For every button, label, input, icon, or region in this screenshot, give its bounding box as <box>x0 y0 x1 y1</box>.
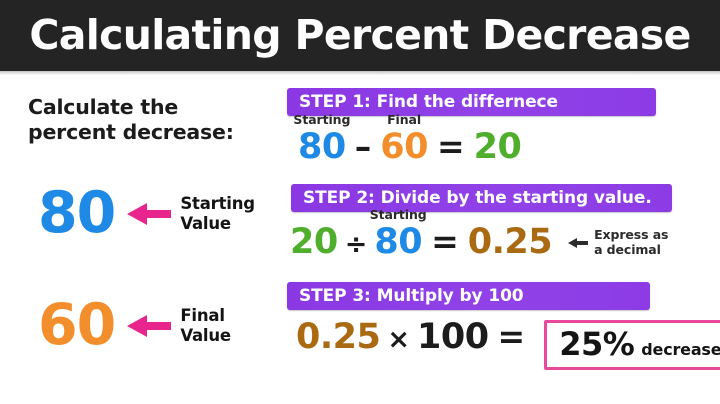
page-title: Calculating Percent Decrease <box>29 15 690 56</box>
final-value-number: 60 <box>38 297 115 354</box>
final-answer-box: 25% decrease <box>544 320 720 370</box>
step-1-equation: Starting 80 – Final 60 = 20 <box>298 130 521 165</box>
final-value-label-line2: Value <box>180 326 231 345</box>
step-2-term-1: 20 <box>290 225 338 260</box>
step-1-term-2-value: 60 <box>380 127 428 167</box>
step-2-result: 0.25 <box>468 225 552 260</box>
step-1-term-1-value: 80 <box>298 127 346 167</box>
starting-value-number: 80 <box>38 185 115 242</box>
step-1-term-1: Starting 80 <box>298 130 346 165</box>
steps-panel: STEP 1: Find the differnece Starting 80 … <box>278 75 720 404</box>
step-1-term-2: Final 60 <box>380 130 428 165</box>
step-2-term-2: Starting 80 <box>374 225 422 260</box>
step-2-equation: 20 ÷ Starting 80 = 0.25 Express as a dec… <box>290 225 668 260</box>
step-3-equation: 0.25 × 100 = 25% decrease <box>296 320 720 370</box>
final-value-label-line1: Final <box>180 306 231 325</box>
final-value-row: 60 Final Value <box>38 297 231 354</box>
step-1-operator: – <box>346 130 381 163</box>
step-2-term-2-value: 80 <box>374 222 422 262</box>
starting-value-row: 80 Starting Value <box>38 185 255 242</box>
step-3-banner-label: STEP 3: Multiply by 100 <box>287 286 524 306</box>
starting-value-label: Starting Value <box>180 194 255 233</box>
starting-value-label-line1: Starting <box>180 194 255 213</box>
step-2-banner: STEP 2: Divide by the starting value. <box>291 184 672 212</box>
arrow-left-icon <box>127 201 171 227</box>
step-2-operator: ÷ <box>338 231 375 258</box>
arrow-left-small-icon <box>568 237 588 249</box>
arrow-left-icon <box>127 313 171 339</box>
step-1-result: 20 <box>474 130 522 165</box>
step-2-note-text: Express as a decimal <box>594 228 668 258</box>
step-2-note-line1: Express as <box>594 228 668 243</box>
step-2-note-line2: a decimal <box>594 243 668 258</box>
step-1-term-2-mini-label: Final <box>387 114 421 127</box>
step-1-banner-label: STEP 1: Find the differnece <box>287 92 558 112</box>
step-2-banner-label: STEP 2: Divide by the starting value. <box>291 188 652 208</box>
step-1-term-1-mini-label: Starting <box>293 114 350 127</box>
problem-prompt: Calculate the percent decrease: <box>28 95 268 145</box>
step-3-term-2: 100 <box>417 320 489 355</box>
problem-panel: Calculate the percent decrease: 80 Start… <box>0 75 278 404</box>
final-answer-unit: decrease <box>641 340 720 359</box>
final-value-label: Final Value <box>180 306 231 345</box>
step-2-term-2-mini-label: Starting <box>370 209 427 222</box>
step-1-equals: = <box>428 130 474 163</box>
final-answer-value: 25% <box>559 328 634 360</box>
starting-value-label-line2: Value <box>180 214 255 233</box>
step-3-banner: STEP 3: Multiply by 100 <box>287 282 650 310</box>
step-3-equals: = <box>489 320 535 353</box>
step-3-operator: × <box>380 326 417 353</box>
step-2-equals: = <box>422 225 468 258</box>
step-2-note: Express as a decimal <box>568 228 668 258</box>
header-bar: Calculating Percent Decrease <box>0 0 720 71</box>
step-3-term-1: 0.25 <box>296 320 380 355</box>
